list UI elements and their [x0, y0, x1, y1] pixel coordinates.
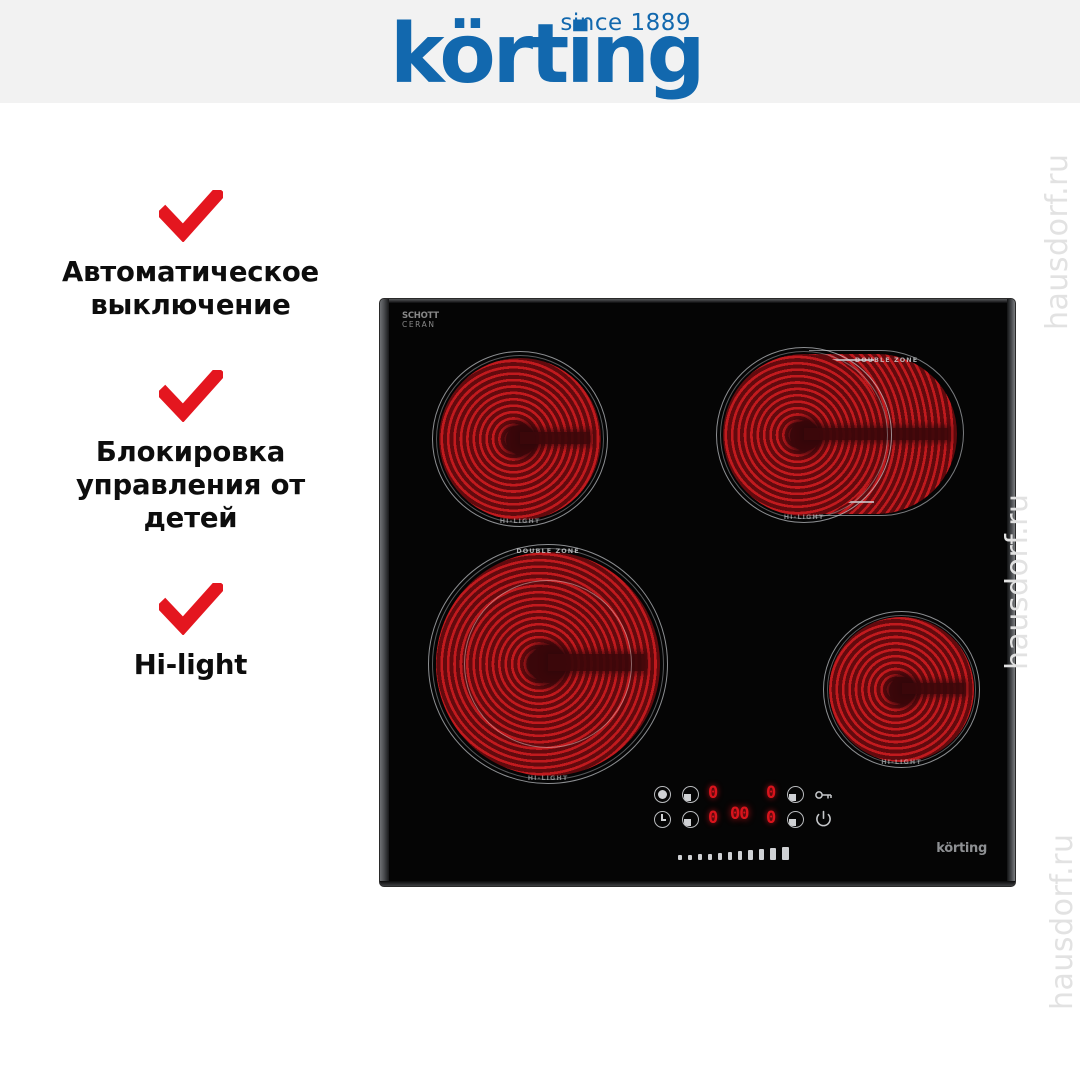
burner-zone-rear-right: DOUBLE ZONE HI-LIGHT	[716, 347, 892, 523]
circle-quadrant-fill	[789, 819, 796, 826]
brand-logo-tagline: since 1889	[560, 10, 691, 36]
key-icon[interactable]	[815, 788, 833, 800]
burner-zone-front-left: HI-LIGHT	[432, 351, 608, 527]
slider-step[interactable]	[718, 853, 722, 860]
slider-step[interactable]	[728, 852, 732, 860]
slider-step[interactable]	[708, 854, 712, 861]
page-header: körting since 1889	[0, 0, 1080, 103]
burner-label-bottom: HI-LIGHT	[432, 517, 608, 525]
zone-display-4: 0	[766, 810, 776, 827]
check-icon	[18, 190, 363, 256]
zone-selector-icon-4[interactable]	[682, 811, 699, 828]
feature-label: Автоматическое выключение	[18, 256, 363, 322]
schott-ceran-line2: CERAN	[402, 321, 439, 329]
burner-zone-front-left-large: DOUBLE ZONE HI-LIGHT	[428, 544, 668, 784]
zone-selector-icon-6[interactable]	[787, 811, 804, 828]
circle-center-fill	[658, 790, 667, 799]
feature-list: Автоматическое выключение Блокировка упр…	[18, 190, 363, 690]
slider-step[interactable]	[748, 850, 753, 860]
burner-zone-rear-left: HI-LIGHT	[823, 611, 980, 768]
schott-ceran-line1: SCHOTT	[402, 312, 439, 320]
circle-quadrant-fill	[684, 819, 691, 826]
zone-selector-icon-1[interactable]	[654, 786, 671, 803]
cooktop-brand-label: körting	[936, 841, 987, 856]
watermark-text: hausdorf.ru	[1045, 833, 1080, 1010]
slider-step[interactable]	[770, 848, 776, 860]
burner-inner-ring	[827, 615, 976, 764]
watermark-text: hausdorf.ru	[1000, 493, 1035, 670]
burner-label-top: DOUBLE ZONE	[804, 356, 969, 364]
feature-item-hi-light: Hi-light	[18, 583, 363, 682]
check-icon	[18, 583, 363, 649]
slider-step[interactable]	[678, 855, 682, 860]
schott-ceran-logo: SCHOTT CERAN	[402, 312, 439, 329]
zone-selector-icon-3[interactable]	[654, 811, 671, 828]
cooktop-bevel-bottom	[380, 881, 1015, 886]
power-icon[interactable]	[814, 810, 833, 829]
slider-step[interactable]	[759, 849, 764, 860]
burner-inner-ring	[720, 351, 888, 519]
cooktop-bevel-left	[380, 299, 389, 886]
burner-inner-ring	[432, 548, 664, 780]
watermark-text: hausdorf.ru	[1040, 153, 1075, 330]
circle-quadrant-fill	[789, 794, 796, 801]
circle-tick-2	[661, 819, 666, 821]
control-panel[interactable]: 0 0 00 0 0	[654, 784, 844, 874]
slider-step[interactable]	[738, 851, 742, 860]
slider-step[interactable]	[688, 855, 692, 861]
burner-inner-ring	[436, 355, 604, 523]
power-level-slider[interactable]	[678, 846, 793, 860]
burner-label-bottom: HI-LIGHT	[428, 774, 668, 782]
timer-display: 00	[730, 806, 748, 823]
feature-item-auto-shutoff: Автоматическое выключение	[18, 190, 363, 322]
feature-label: Блокировка управления от детей	[18, 436, 363, 535]
feature-label: Hi-light	[18, 649, 363, 682]
cooktop-bevel-top	[380, 299, 1015, 303]
zone-selector-icon-2[interactable]	[682, 786, 699, 803]
slider-step[interactable]	[782, 847, 789, 860]
brand-logo: körting since 1889	[390, 8, 690, 98]
burner-label-bottom: HI-LIGHT	[823, 758, 980, 766]
zone-selector-icon-5[interactable]	[787, 786, 804, 803]
burner-label-top: DOUBLE ZONE	[428, 547, 668, 555]
zone-display-3: 0	[766, 785, 776, 802]
burner-label-bottom: HI-LIGHT	[716, 513, 892, 521]
feature-item-child-lock: Блокировка управления от детей	[18, 370, 363, 535]
check-icon	[18, 370, 363, 436]
slider-step[interactable]	[698, 854, 702, 860]
zone-display-2: 0	[708, 810, 718, 827]
zone-display-1: 0	[708, 785, 718, 802]
circle-quadrant-fill	[684, 794, 691, 801]
product-image-cooktop: SCHOTT CERAN HI-LIGHT DOUBLE ZONE HI-LIG…	[380, 299, 1015, 886]
